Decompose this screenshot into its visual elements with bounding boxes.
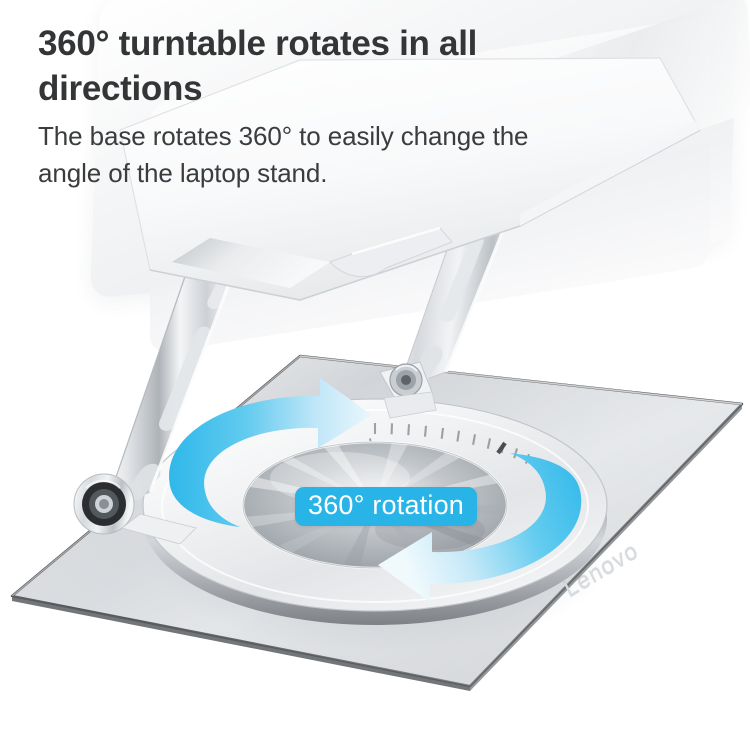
page-title: 360° turntable rotates in all directions: [38, 22, 698, 112]
page-subtitle: The base rotates 360° to easily change t…: [38, 118, 698, 193]
rotation-badge: 360° rotation: [295, 487, 477, 526]
product-feature-image: 360° turntable rotates in all directions…: [0, 0, 750, 750]
hinge-left: [74, 474, 134, 534]
header-text-block: 360° turntable rotates in all directions…: [38, 22, 698, 193]
